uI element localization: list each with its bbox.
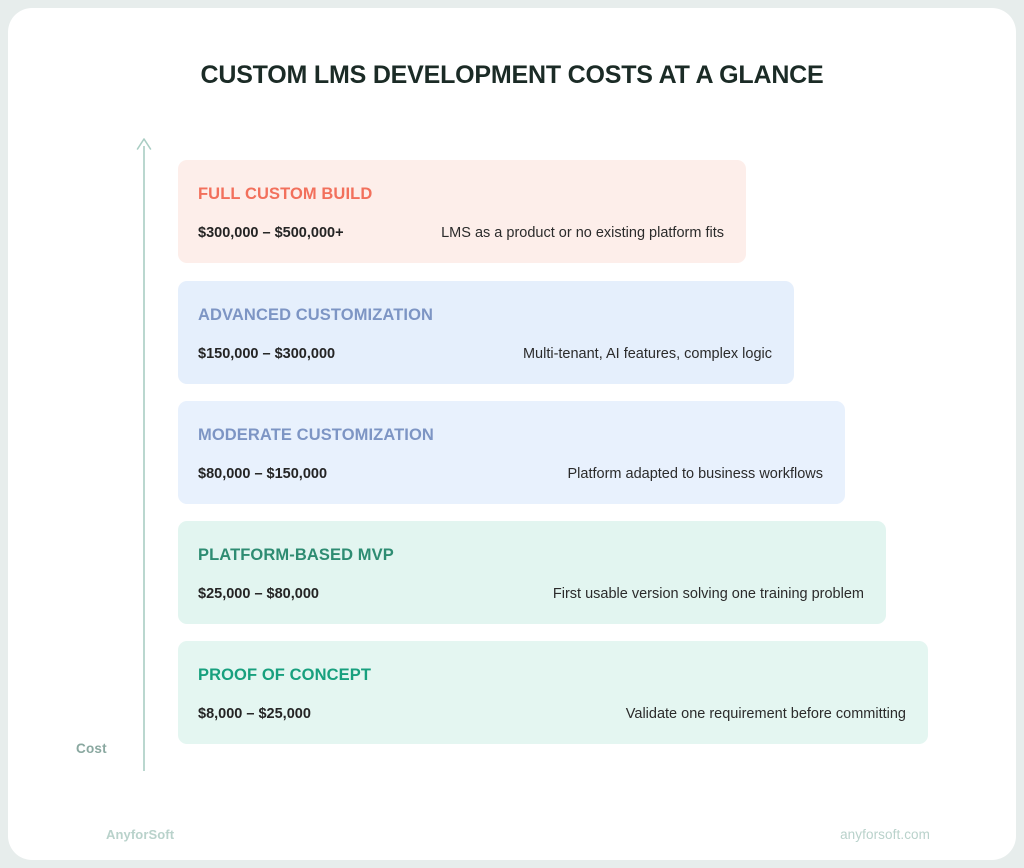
tier-name: FULL CUSTOM BUILD bbox=[198, 185, 372, 204]
infographic-card: CUSTOM LMS DEVELOPMENT COSTS AT A GLANCE… bbox=[8, 8, 1016, 860]
footer-website: anyforsoft.com bbox=[840, 827, 930, 842]
tier-cost-range: $80,000 – $150,000 bbox=[198, 466, 327, 482]
tier-name: PLATFORM-BASED MVP bbox=[198, 546, 394, 565]
tier-description: LMS as a product or no existing platform… bbox=[441, 225, 724, 241]
tier-description: First usable version solving one trainin… bbox=[553, 586, 864, 602]
tier-name: ADVANCED CUSTOMIZATION bbox=[198, 306, 433, 325]
tier-cost-range: $150,000 – $300,000 bbox=[198, 346, 335, 362]
tier-name: PROOF OF CONCEPT bbox=[198, 666, 371, 685]
tier-name: MODERATE CUSTOMIZATION bbox=[198, 426, 434, 445]
tier-bar-full-custom-build: FULL CUSTOM BUILD $300,000 – $500,000+ L… bbox=[178, 160, 746, 263]
cost-axis-label: Cost bbox=[76, 741, 107, 756]
tier-bar-advanced-customization: ADVANCED CUSTOMIZATION $150,000 – $300,0… bbox=[178, 281, 794, 384]
tier-bar-platform-based-mvp: PLATFORM-BASED MVP $25,000 – $80,000 Fir… bbox=[178, 521, 886, 624]
tier-bar-proof-of-concept: PROOF OF CONCEPT $8,000 – $25,000 Valida… bbox=[178, 641, 928, 744]
tier-cost-range: $25,000 – $80,000 bbox=[198, 586, 319, 602]
page-title: CUSTOM LMS DEVELOPMENT COSTS AT A GLANCE bbox=[8, 61, 1016, 90]
tier-description: Platform adapted to business workflows bbox=[568, 466, 824, 482]
tier-bar-moderate-customization: MODERATE CUSTOMIZATION $80,000 – $150,00… bbox=[178, 401, 845, 504]
tier-cost-range: $300,000 – $500,000+ bbox=[198, 225, 344, 241]
cost-axis-arrow bbox=[134, 136, 154, 771]
tier-description: Multi-tenant, AI features, complex logic bbox=[523, 346, 772, 362]
footer-brand: AnyforSoft bbox=[106, 827, 174, 842]
tier-cost-range: $8,000 – $25,000 bbox=[198, 706, 311, 722]
tier-description: Validate one requirement before committi… bbox=[626, 706, 906, 722]
